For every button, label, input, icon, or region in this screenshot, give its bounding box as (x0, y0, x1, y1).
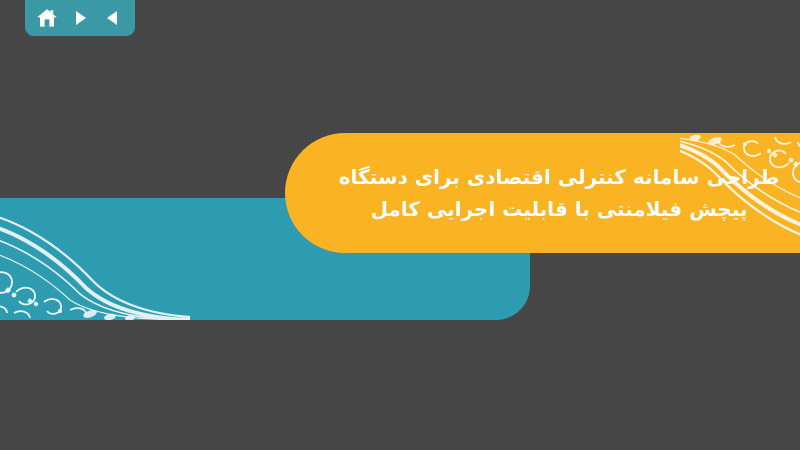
title-line-1: طراحی سامانه کنترلی اقتصادی برای دستگاه (339, 162, 780, 192)
home-icon (36, 8, 58, 28)
title-banner: طراحی سامانه کنترلی اقتصادی برای دستگاه … (285, 133, 800, 253)
next-slide-button[interactable] (67, 5, 93, 31)
arabesque-ornament-mirrored (0, 202, 190, 320)
slide-navigation-bar (25, 0, 135, 36)
triangle-left-icon (104, 9, 122, 27)
home-button[interactable] (34, 5, 60, 31)
previous-slide-button[interactable] (100, 5, 126, 31)
slide-canvas: طراحی سامانه کنترلی اقتصادی برای دستگاه … (0, 0, 800, 450)
title-line-2: پیچش فیلامنتی با قابلیت اجرایی کامل (371, 194, 748, 224)
triangle-right-icon (71, 9, 89, 27)
title-block: طراحی سامانه کنترلی اقتصادی برای دستگاه … (285, 133, 800, 253)
